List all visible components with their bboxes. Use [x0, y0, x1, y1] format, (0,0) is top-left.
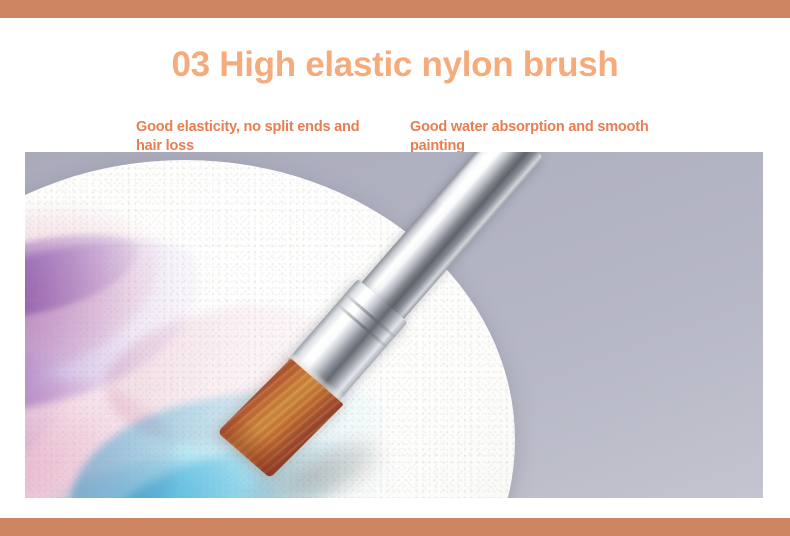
- wash-violet-crest: [25, 216, 147, 332]
- bottom-accent-rule: [0, 518, 790, 536]
- wash-rose-pool: [25, 359, 189, 498]
- page-title: 03 High elastic nylon brush: [0, 44, 790, 86]
- feature-item-elasticity: Good elasticity, no split ends and hair …: [136, 118, 386, 156]
- wash-violet-lower: [25, 329, 81, 498]
- feature-list: Good elasticity, no split ends and hair …: [136, 118, 696, 156]
- product-feature-banner: 03 High elastic nylon brush Good elastic…: [0, 0, 790, 536]
- top-accent-rule: [0, 0, 790, 18]
- product-photo: [25, 152, 763, 498]
- wash-pink-upper: [25, 183, 177, 412]
- wash-violet-main: [25, 207, 224, 447]
- feature-item-absorption: Good water absorption and smooth paintin…: [410, 118, 660, 156]
- banner-header: 03 High elastic nylon brush Good elastic…: [0, 18, 790, 152]
